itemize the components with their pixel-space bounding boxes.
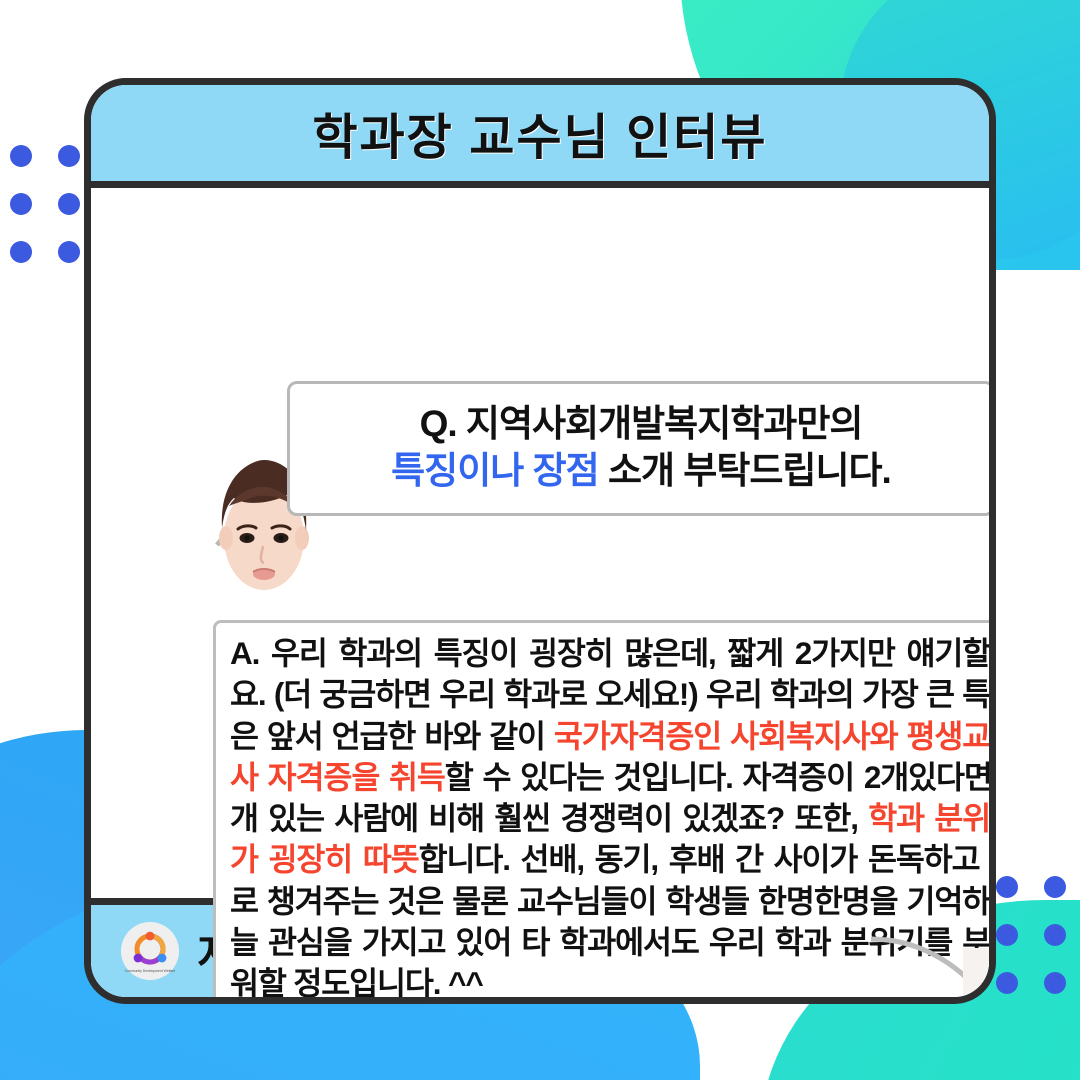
dot (1044, 972, 1066, 994)
community-logo-icon: Community Development Welfare (121, 922, 179, 980)
question-bubble: Q. 지역사회개발복지학과만의 특징이나 장점 소개 부탁드립니다. (287, 381, 995, 516)
question-line-2-rest: 소개 부탁드립니다. (599, 450, 891, 491)
dot (58, 193, 80, 215)
dot (996, 924, 1018, 946)
dot (996, 876, 1018, 898)
card-header: 학과장 교수님 인터뷰 (91, 85, 989, 188)
page-title: 학과장 교수님 인터뷰 (313, 98, 768, 169)
dot (996, 972, 1018, 994)
dot (10, 145, 32, 167)
dot (58, 145, 80, 167)
dot (10, 193, 32, 215)
question-highlight: 특징이나 장점 (391, 450, 599, 491)
dot (1044, 876, 1066, 898)
card-body: Q. 지역사회개발복지학과만의 특징이나 장점 소개 부탁드립니다. A. 우리… (91, 188, 989, 898)
interview-card: 학과장 교수님 인터뷰 Q. 지역사회개발복지학과만의 특징이나 (84, 78, 996, 1004)
dot (10, 241, 32, 263)
dot (1044, 924, 1066, 946)
question-line-2: 특징이나 장점 소개 부탁드립니다. (310, 447, 972, 494)
svg-text:Community Development Welfare: Community Development Welfare (125, 969, 176, 973)
question-line-1: Q. 지역사회개발복지학과만의 (310, 400, 972, 447)
dot (58, 241, 80, 263)
